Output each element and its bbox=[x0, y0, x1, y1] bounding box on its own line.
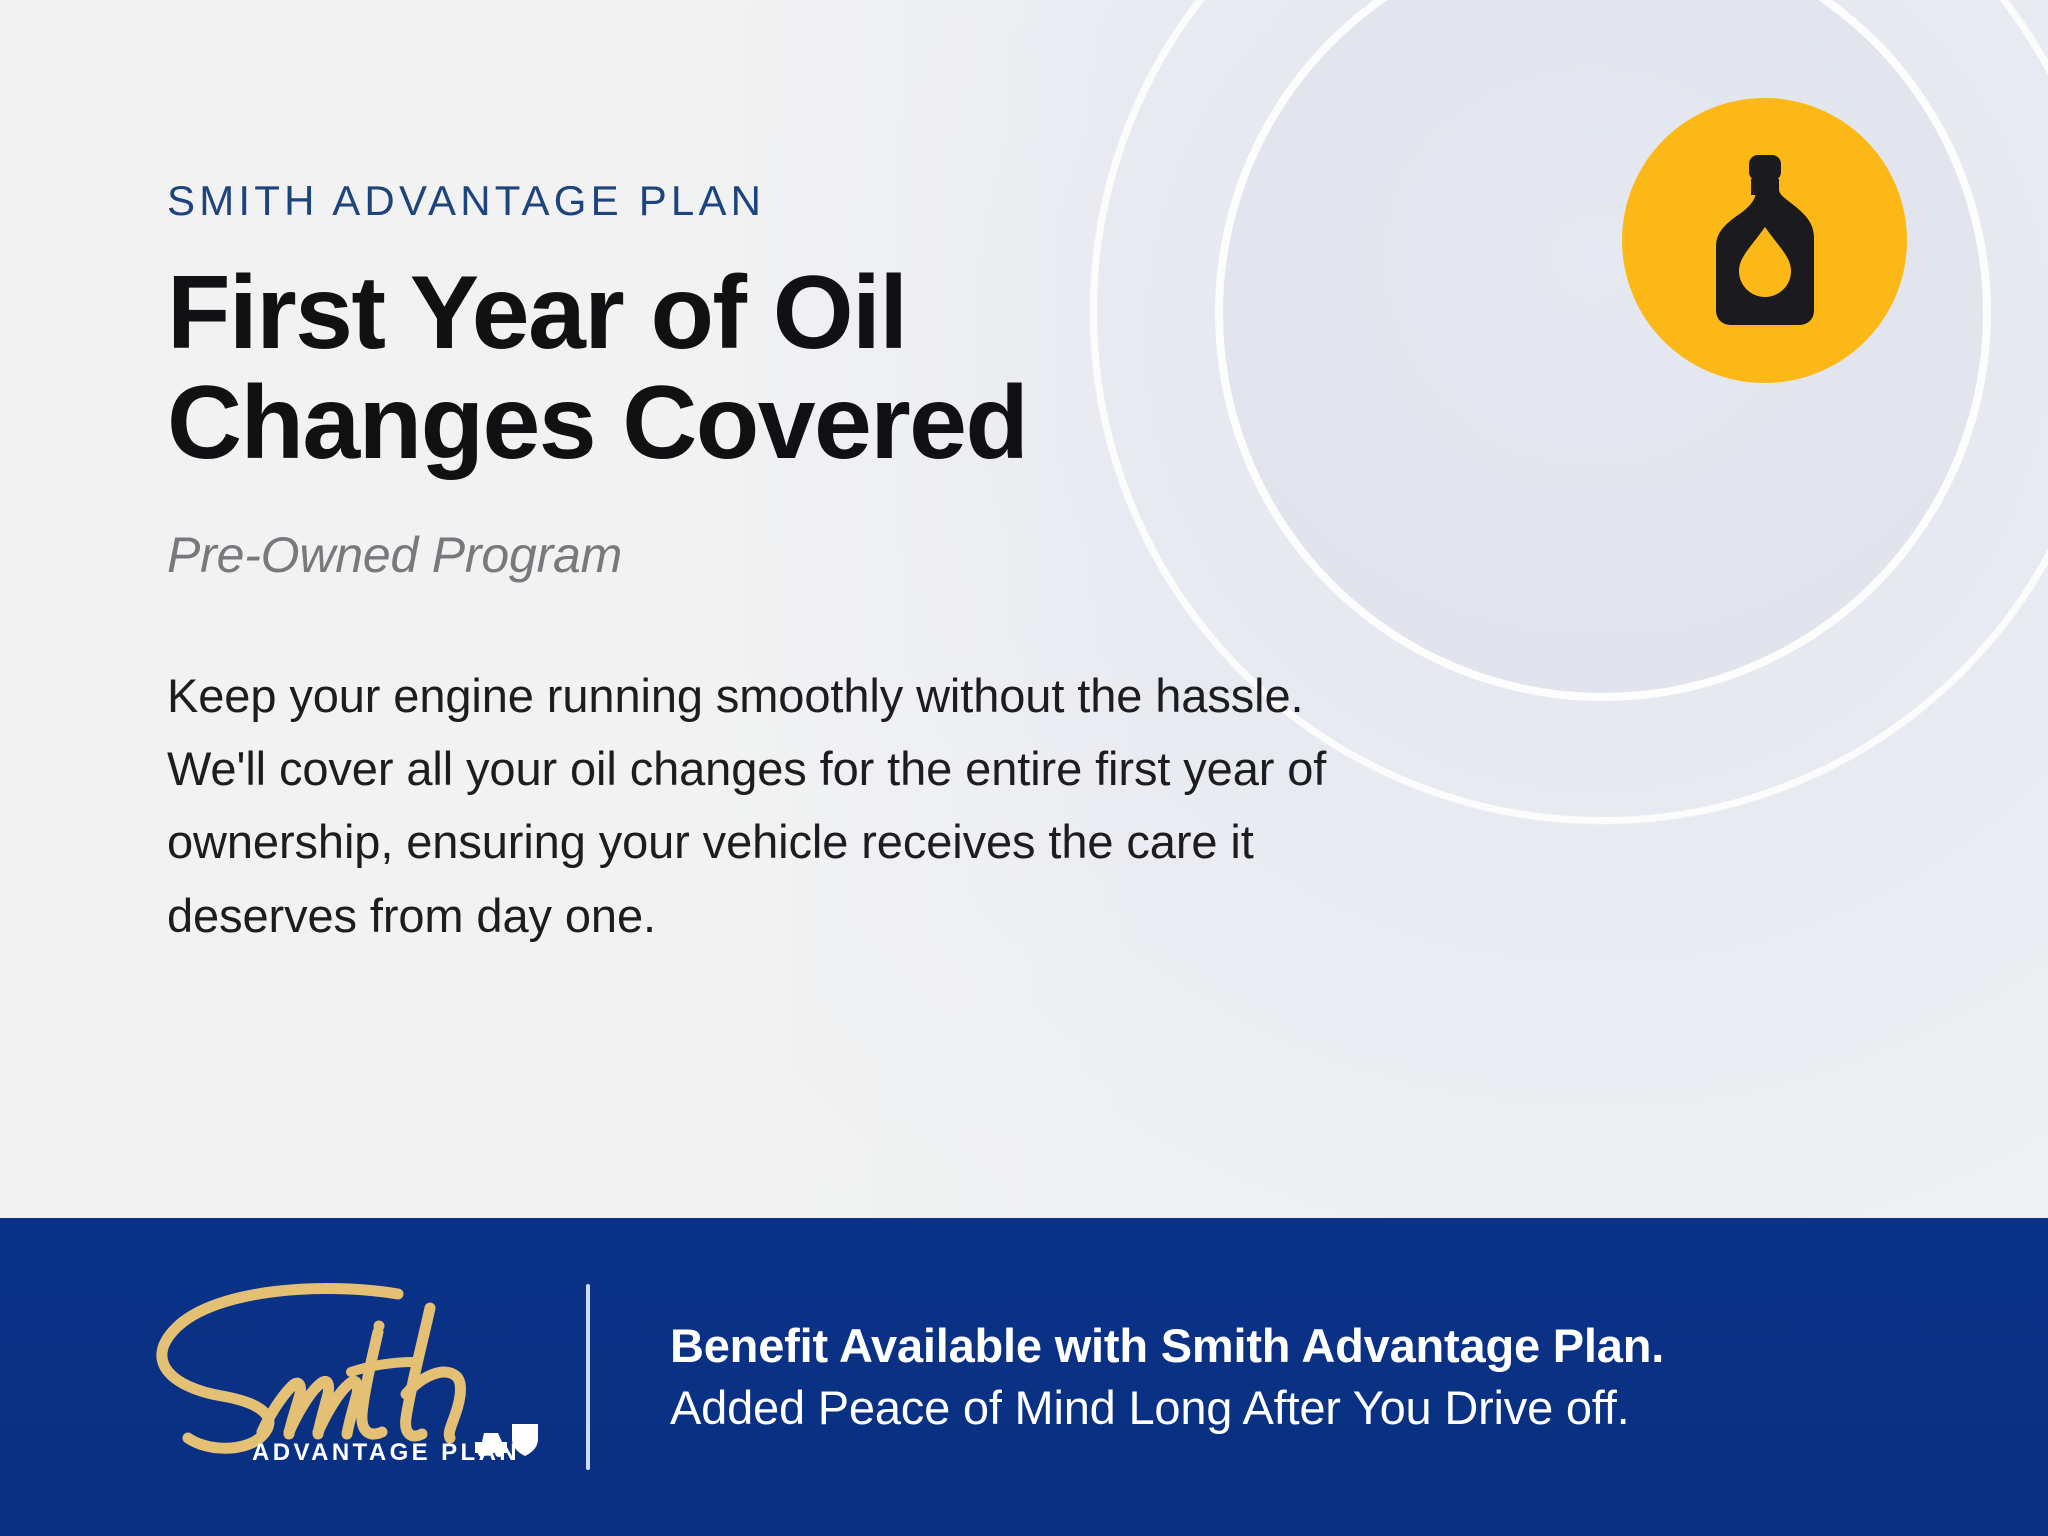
program-subtitle: Pre-Owned Program bbox=[167, 525, 1397, 585]
hero-content: SMITH ADVANTAGE PLAN First Year of Oil C… bbox=[167, 178, 1397, 952]
body-description: Keep your engine running smoothly withou… bbox=[167, 659, 1397, 952]
footer-subline: Added Peace of Mind Long After You Drive… bbox=[670, 1377, 1664, 1439]
oil-bottle-icon bbox=[1690, 155, 1840, 327]
footer-message: Benefit Available with Smith Advantage P… bbox=[670, 1315, 1664, 1439]
page-title: First Year of Oil Changes Covered bbox=[167, 258, 1227, 478]
promo-card: SMITH ADVANTAGE PLAN First Year of Oil C… bbox=[0, 0, 2048, 1536]
footer-bar: ADVANTAGE PLAN Benefit Available with Sm… bbox=[0, 1218, 2048, 1536]
smith-advantage-plan-logo: ADVANTAGE PLAN bbox=[130, 1272, 550, 1482]
footer-headline: Benefit Available with Smith Advantage P… bbox=[670, 1315, 1664, 1377]
footer-divider bbox=[586, 1284, 590, 1470]
oil-bottle-icon-badge bbox=[1622, 98, 1907, 383]
eyebrow-label: SMITH ADVANTAGE PLAN bbox=[167, 178, 1397, 224]
